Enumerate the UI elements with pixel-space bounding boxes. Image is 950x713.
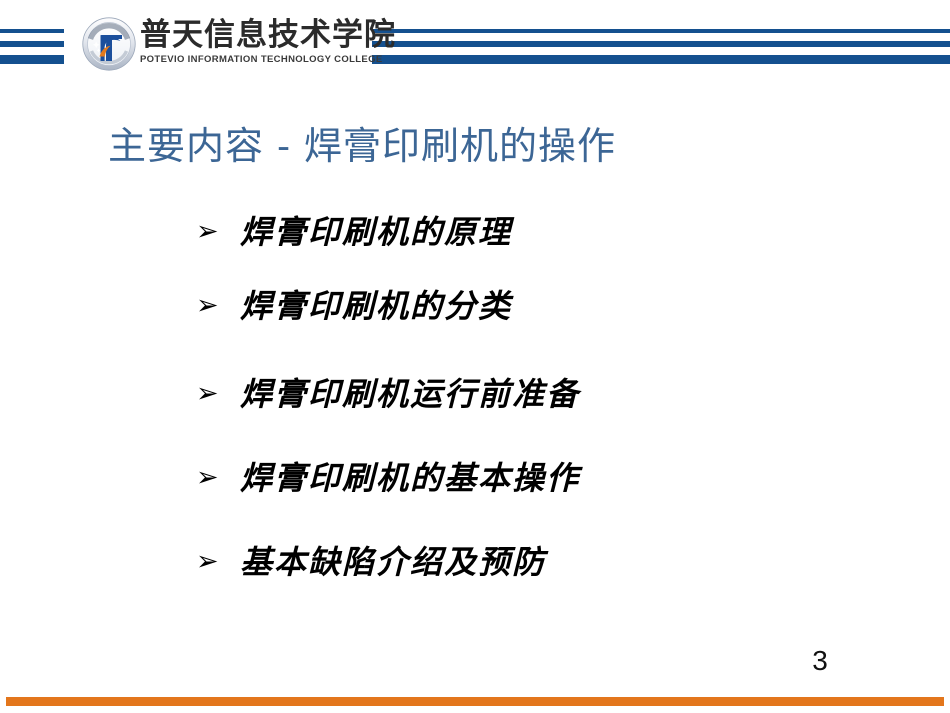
header-rule-left-1 [0,29,64,33]
header-left-rules [0,29,64,71]
header-rule-left-3 [0,55,64,64]
list-item-label: 焊膏印刷机的原理 [240,210,896,254]
list-item[interactable]: ➢ 焊膏印刷机的原理 [196,210,896,254]
list-item[interactable]: ➢ 焊膏印刷机的分类 [196,284,896,328]
slide-header: 普天信息技术学院 POTEVIO INFORMATION TECHNOLOGY … [0,0,950,92]
page-title: 主要内容 - 焊膏印刷机的操作 [108,122,698,170]
footer-accent-bar [6,697,944,706]
arrow-bullet-icon: ➢ [196,210,240,254]
list-item-label: 焊膏印刷机的基本操作 [240,456,896,500]
college-wordmark: 普天信息技术学院 POTEVIO INFORMATION TECHNOLOGY … [140,18,372,66]
header-rule-right-3 [372,55,950,64]
arrow-bullet-icon: ➢ [196,540,240,584]
list-item-label: 基本缺陷介绍及预防 [240,540,896,584]
arrow-bullet-icon: ➢ [196,372,240,416]
page-number: 3 [800,645,840,677]
wordmark-english: POTEVIO INFORMATION TECHNOLOGY COLLEGE [140,54,372,66]
agenda-list: ➢ 焊膏印刷机的原理 ➢ 焊膏印刷机的分类 ➢ 焊膏印刷机运行前准备 ➢ 焊膏印… [196,210,896,584]
list-item-label: 焊膏印刷机的分类 [240,284,896,328]
slide-canvas: 普天信息技术学院 POTEVIO INFORMATION TECHNOLOGY … [0,0,950,713]
header-rule-right-1 [372,29,950,33]
wordmark-chinese: 普天信息技术学院 [140,18,372,52]
college-emblem-icon [82,17,136,71]
header-right-rules [372,29,950,71]
list-item[interactable]: ➢ 焊膏印刷机的基本操作 [196,456,896,500]
arrow-bullet-icon: ➢ [196,456,240,500]
header-rule-right-2 [372,41,950,47]
header-rule-left-2 [0,41,64,47]
list-item[interactable]: ➢ 基本缺陷介绍及预防 [196,540,896,584]
list-item-label: 焊膏印刷机运行前准备 [240,372,896,416]
arrow-bullet-icon: ➢ [196,284,240,328]
list-item[interactable]: ➢ 焊膏印刷机运行前准备 [196,372,896,416]
